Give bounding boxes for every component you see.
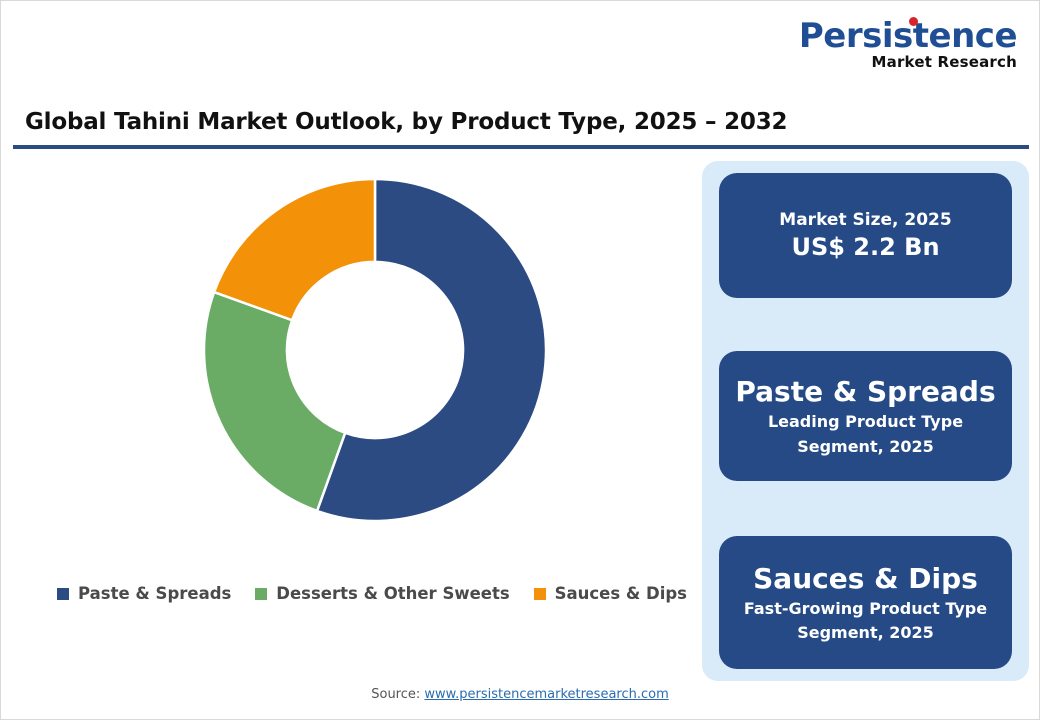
legend-item-desserts-and-other-sweets: Desserts & Other Sweets	[255, 584, 509, 603]
info-card-caption: Market Size, 2025	[779, 210, 951, 230]
chart-legend: Paste & Spreads Desserts & Other Sweets …	[57, 584, 687, 603]
legend-label: Sauces & Dips	[555, 584, 687, 603]
donut-chart	[189, 164, 561, 536]
infographic-page: Persistence Market Research Global Tahin…	[0, 0, 1040, 720]
info-card-leading-segment: Paste & Spreads Leading Product Type Seg…	[719, 351, 1012, 481]
legend-item-sauces-and-dips: Sauces & Dips	[534, 584, 687, 603]
info-panel: Market Size, 2025 US$ 2.2 Bn Paste & Spr…	[702, 161, 1029, 681]
legend-item-paste-and-spreads: Paste & Spreads	[57, 584, 231, 603]
legend-label: Paste & Spreads	[78, 584, 231, 603]
legend-swatch-icon	[534, 588, 546, 600]
info-card-caption-line2: Segment, 2025	[797, 623, 934, 642]
info-card-caption-line1: Leading Product Type	[768, 412, 963, 431]
logo-dot-icon	[909, 17, 918, 26]
info-card-value: US$ 2.2 Bn	[791, 234, 939, 261]
info-card-value: Paste & Spreads	[735, 376, 995, 407]
info-card-fast-growing-segment: Sauces & Dips Fast-Growing Product Type …	[719, 536, 1012, 669]
logo-wordmark: Persistence	[799, 19, 1017, 53]
donut-slices	[204, 179, 546, 521]
logo-subtitle: Market Research	[787, 55, 1017, 70]
legend-label: Desserts & Other Sweets	[276, 584, 509, 603]
title-divider	[13, 145, 1029, 149]
page-title: Global Tahini Market Outlook, by Product…	[25, 109, 787, 135]
legend-swatch-icon	[255, 588, 267, 600]
info-card-market-size: Market Size, 2025 US$ 2.2 Bn	[719, 173, 1012, 298]
info-card-caption-line2: Segment, 2025	[797, 437, 934, 456]
company-logo: Persistence Market Research	[787, 19, 1017, 70]
donut-chart-svg	[189, 164, 561, 536]
info-card-value: Sauces & Dips	[753, 563, 978, 594]
donut-slice-desserts-other-sweets	[204, 292, 345, 511]
source-footer: Source: www.persistencemarketresearch.co…	[1, 687, 1039, 702]
logo-wordmark-text: Persistence	[799, 16, 1017, 56]
source-link[interactable]: www.persistencemarketresearch.com	[424, 687, 668, 702]
info-card-caption-line1: Fast-Growing Product Type	[744, 599, 987, 618]
legend-swatch-icon	[57, 588, 69, 600]
donut-slice-sauces-dips	[214, 179, 375, 320]
source-prefix: Source:	[371, 687, 424, 702]
